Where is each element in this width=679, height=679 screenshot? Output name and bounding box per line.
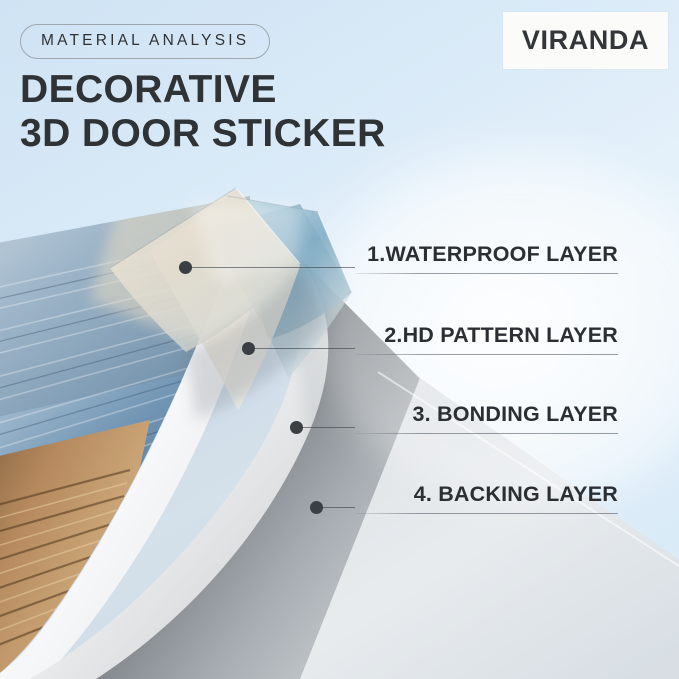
leader-line-2 bbox=[254, 348, 355, 349]
callout-label: 4. BACKING LAYER bbox=[414, 482, 618, 507]
page-title: DECORATIVE 3D DOOR STICKER bbox=[20, 68, 490, 157]
callout-backing-layer: 4. BACKING LAYER bbox=[355, 470, 648, 514]
leader-line-4 bbox=[322, 507, 355, 508]
leader-dot-1 bbox=[179, 261, 192, 274]
callout-underline bbox=[355, 354, 618, 355]
callout-hd-pattern-layer: 2.HD PATTERN LAYER bbox=[355, 311, 648, 355]
callout-label: 1.WATERPROOF LAYER bbox=[367, 242, 618, 267]
callout-bonding-layer: 3. BONDING LAYER bbox=[355, 390, 648, 434]
callout-label: 3. BONDING LAYER bbox=[413, 402, 619, 427]
callout-label: 2.HD PATTERN LAYER bbox=[384, 323, 618, 348]
brand-logo-text: VIRANDA bbox=[522, 25, 649, 56]
callout-underline bbox=[355, 513, 618, 514]
brand-logo: VIRANDA bbox=[503, 12, 668, 69]
leader-line-1 bbox=[191, 267, 355, 268]
infographic-canvas: MATERIAL ANALYSIS DECORATIVE 3D DOOR STI… bbox=[0, 0, 679, 679]
leader-dot-4 bbox=[310, 501, 323, 514]
callout-underline bbox=[355, 433, 618, 434]
material-analysis-badge: MATERIAL ANALYSIS bbox=[20, 24, 270, 59]
leader-dot-2 bbox=[242, 342, 255, 355]
callout-waterproof-layer: 1.WATERPROOF LAYER bbox=[355, 230, 648, 274]
title-line-2: 3D DOOR STICKER bbox=[20, 112, 490, 156]
title-line-1: DECORATIVE bbox=[20, 68, 277, 111]
callout-underline bbox=[355, 273, 618, 274]
leader-dot-3 bbox=[290, 421, 303, 434]
leader-line-3 bbox=[302, 427, 355, 428]
